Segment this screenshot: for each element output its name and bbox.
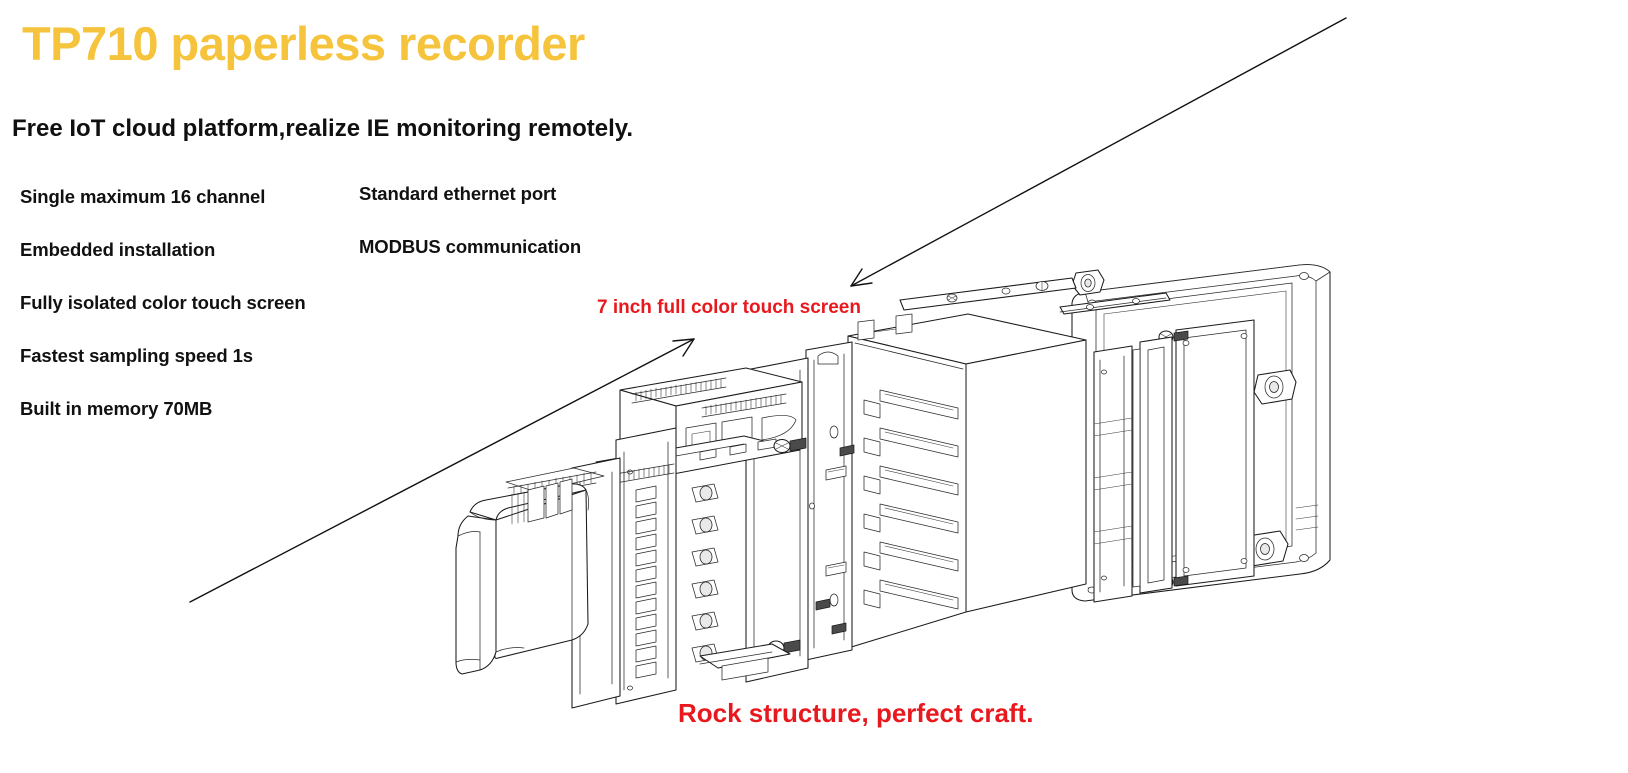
io-board-screw-bottom [768, 640, 800, 655]
feature-item-memory: Built in memory 70MB [20, 398, 212, 420]
gasket-screw-top [1159, 331, 1188, 343]
feature-item-installation: Embedded installation [20, 239, 215, 261]
connector-pin-row-b [702, 394, 786, 417]
io-board-screw [774, 438, 806, 453]
callout-touch-screen: 7 inch full color touch screen [597, 297, 861, 319]
part-rear-terminal-cover [456, 484, 589, 674]
part-front-card-strip [506, 458, 620, 708]
connector-pin-row-a [632, 378, 726, 403]
part-backplane-board [806, 342, 854, 660]
gasket-screw-bottom [1159, 576, 1188, 588]
arrow-to-rear-assembly [190, 339, 694, 602]
part-touch-gasket [1159, 320, 1254, 588]
arrow-to-front-bezel [851, 18, 1346, 286]
feature-item-sampling: Fastest sampling speed 1s [20, 345, 253, 367]
poster-canvas: TP710 paperless recorder Free IoT cloud … [0, 0, 1628, 773]
part-mounting-plate [1060, 270, 1170, 602]
feature-item-touchscreen: Fully isolated color touch screen [20, 292, 306, 314]
feature-item-modbus: MODBUS communication [359, 236, 581, 258]
feature-item-channel: Single maximum 16 channel [20, 186, 265, 208]
feature-item-ethernet: Standard ethernet port [359, 183, 556, 205]
part-front-bezel [1072, 265, 1330, 601]
part-lcd-panel [1133, 337, 1172, 593]
bezel-mount-clip-bottom [1244, 531, 1288, 566]
page-title: TP710 paperless recorder [22, 20, 585, 67]
rear-cover-vent-slots [512, 479, 572, 524]
page-subtitle: Free IoT cloud platform,realize IE monit… [12, 115, 633, 143]
part-terminal-block-strip [580, 428, 676, 704]
chassis-card-slots [880, 390, 958, 609]
terminal-clamps [636, 486, 656, 678]
part-main-chassis [848, 278, 1086, 648]
bezel-mount-clip-top [1254, 370, 1296, 404]
screw-terminal-column [692, 484, 718, 662]
part-io-module-board [596, 358, 808, 682]
callout-rock-structure: Rock structure, perfect craft. [678, 698, 1033, 729]
